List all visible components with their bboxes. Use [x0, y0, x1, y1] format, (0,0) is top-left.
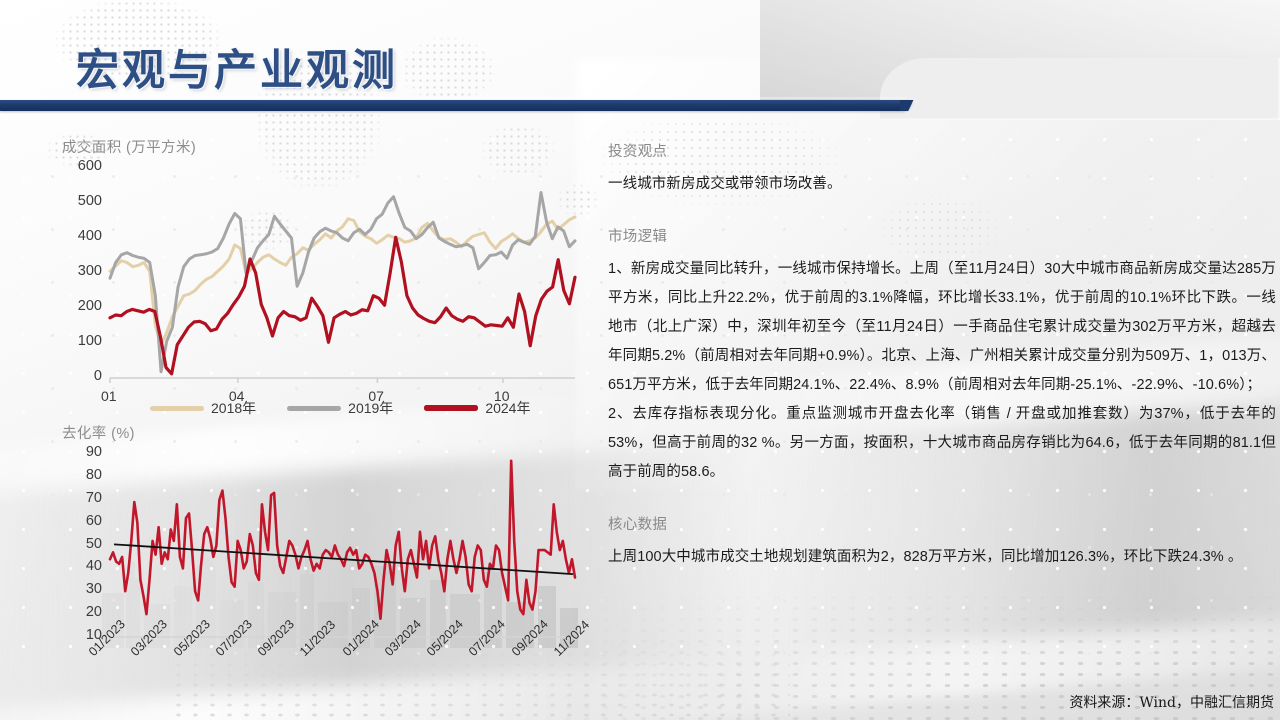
spacer: [608, 199, 1276, 225]
chart2-y-tick: 60: [62, 513, 102, 529]
chart-transaction-area: 成交面积 (万平方米) 0100200300400500600 01040710…: [62, 136, 582, 426]
section-investment-view: 投资观点 一线城市新房成交或带领市场改善。: [608, 140, 1276, 199]
chart2-y-tick: 80: [62, 467, 102, 483]
legend-label: 2024年: [485, 398, 530, 418]
legend-item[interactable]: 2019年: [287, 398, 393, 418]
legend-swatch: [150, 406, 204, 411]
chart1-plot: [62, 160, 582, 410]
source-note: 资料来源：Wind，中融汇信期货: [1069, 692, 1274, 712]
legend-label: 2018年: [211, 398, 256, 418]
section-heading: 投资观点: [608, 140, 1276, 161]
section-core-data: 核心数据 上周100大中城市成交土地规划建筑面积为2，828万平方米，同比增加1…: [608, 513, 1276, 572]
legend-item[interactable]: 2024年: [424, 398, 530, 418]
section-market-logic: 市场逻辑 1、新房成交量同比转升，一线城市保持增长。上周（至11月24日）30大…: [608, 225, 1276, 487]
analysis-panel: 投资观点 一线城市新房成交或带领市场改善。 市场逻辑 1、新房成交量同比转升，一…: [608, 140, 1276, 572]
chart1-y-tick: 500: [62, 193, 102, 209]
section-body: 1、新房成交量同比转升，一线城市保持增长。上周（至11月24日）30大中城市商品…: [608, 255, 1276, 487]
chart1-title: 成交面积 (万平方米): [62, 136, 582, 157]
legend-label: 2019年: [348, 398, 393, 418]
chart2-y-tick: 90: [62, 444, 102, 460]
section-heading: 市场逻辑: [608, 225, 1276, 246]
page-title: 宏观与产业观测: [76, 36, 398, 98]
chart1-y-tick: 200: [62, 298, 102, 314]
section-body: 上周100大中城市成交土地规划建筑面积为2，828万平方米，同比增加126.3%…: [608, 543, 1276, 572]
spacer: [608, 487, 1276, 513]
chart1-y-tick: 100: [62, 333, 102, 349]
section-body: 一线城市新房成交或带领市场改善。: [608, 170, 1276, 199]
chart1-legend: 2018年2019年2024年: [150, 398, 552, 418]
section-heading: 核心数据: [608, 513, 1276, 534]
chart1-y-tick: 0: [62, 368, 102, 384]
chart-sell-through-rate: 去化率 (%) 102030405060708090 01/202303/202…: [62, 422, 582, 712]
header-curve: [880, 58, 1280, 120]
chart1-y-tick: 400: [62, 228, 102, 244]
chart2-y-tick: 50: [62, 536, 102, 552]
header-highlight-line: [0, 97, 906, 99]
slide-canvas: 宏观与产业观测 成交面积 (万平方米) 0100200300400500600 …: [0, 0, 1280, 720]
chart2-y-tick: 30: [62, 581, 102, 597]
slide-header: 宏观与产业观测: [0, 0, 1280, 118]
chart2-y-tick: 70: [62, 490, 102, 506]
chart1-y-tick: 600: [62, 158, 102, 174]
header-accent-bar: [0, 100, 912, 111]
legend-swatch: [424, 405, 478, 411]
legend-item[interactable]: 2018年: [150, 398, 256, 418]
chart1-x-tick: 01: [101, 388, 117, 404]
chart2-y-tick: 40: [62, 558, 102, 574]
chart2-y-tick: 20: [62, 604, 102, 620]
chart1-y-tick: 300: [62, 263, 102, 279]
legend-swatch: [287, 406, 341, 411]
chart2-title: 去化率 (%): [62, 422, 582, 443]
